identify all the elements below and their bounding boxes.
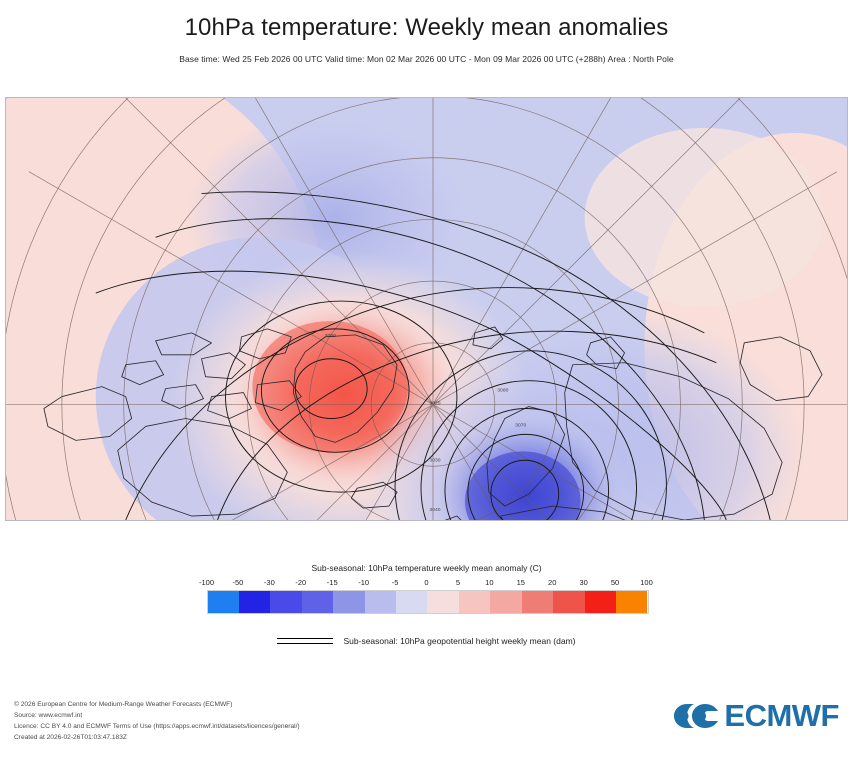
colorbar-caption: Sub-seasonal: 10hPa temperature weekly m… <box>0 563 853 573</box>
svg-text:3020: 3020 <box>429 401 440 407</box>
ecmwf-mark-icon <box>674 701 720 731</box>
colorbar-segment-10 <box>522 591 553 613</box>
svg-text:3050: 3050 <box>325 333 336 339</box>
colorbar-tick--10: -10 <box>358 578 369 587</box>
colorbar-segment-0 <box>208 591 239 613</box>
svg-text:3070: 3070 <box>515 422 526 428</box>
colorbar-block: Sub-seasonal: 10hPa temperature weekly m… <box>0 563 853 614</box>
colorbar-segment-2 <box>270 591 301 613</box>
colorbar-tick-labels: -100-50-30-20-15-10-5051015203050100 <box>207 578 647 590</box>
colorbar-segment-7 <box>427 591 458 613</box>
footer-line-1: Source: www.ecmwf.int <box>14 711 300 722</box>
colorbar-tick-0: 0 <box>424 578 428 587</box>
colorbar-tick-5: 5 <box>456 578 460 587</box>
colorbar-segment-8 <box>459 591 490 613</box>
colorbar-tick--5: -5 <box>392 578 399 587</box>
footer-credits: © 2026 European Centre for Medium-Range … <box>14 700 300 744</box>
contour-line-sample-icon <box>277 637 333 646</box>
colorbar-tick-30: 30 <box>579 578 587 587</box>
svg-text:3080: 3080 <box>497 388 508 394</box>
map-panel[interactable]: 3050 3080 3070 3020 3030 3040 3050 <box>5 97 848 521</box>
contour-legend-label: Sub-seasonal: 10hPa geopotential height … <box>343 636 575 646</box>
colorbar-segment-12 <box>585 591 616 613</box>
colorbar-segment-9 <box>490 591 521 613</box>
contour-legend: Sub-seasonal: 10hPa geopotential height … <box>0 636 853 646</box>
colorbar-tick-20: 20 <box>548 578 556 587</box>
colorbar-strip[interactable] <box>207 590 649 614</box>
colorbar-segment-6 <box>396 591 427 613</box>
colorbar-segment-11 <box>553 591 584 613</box>
svg-text:3040: 3040 <box>429 507 440 513</box>
colorbar-tick--100: -100 <box>199 578 214 587</box>
colorbar-segment-13 <box>616 591 647 613</box>
page-title: 10hPa temperature: Weekly mean anomalies <box>0 14 853 42</box>
colorbar-tick-10: 10 <box>485 578 493 587</box>
colorbar-tick-15: 15 <box>517 578 525 587</box>
footer-line-3: Created at 2026-02-26T01:03:47.183Z <box>14 733 300 744</box>
colorbar-tick--15: -15 <box>327 578 338 587</box>
colorbar-segment-5 <box>365 591 396 613</box>
colorbar-tick--50: -50 <box>233 578 244 587</box>
chart-subtitle: Base time: Wed 25 Feb 2026 00 UTC Valid … <box>0 54 853 64</box>
colorbar-tick-50: 50 <box>611 578 619 587</box>
polar-anomaly-map: 3050 3080 3070 3020 3030 3040 3050 <box>6 98 847 520</box>
colorbar-tick-100: 100 <box>640 578 653 587</box>
colorbar-segment-4 <box>333 591 364 613</box>
ecmwf-wordmark: ECMWF <box>724 700 839 731</box>
ecmwf-logo: ECMWF <box>674 700 839 731</box>
footer-line-0: © 2026 European Centre for Medium-Range … <box>14 700 300 711</box>
svg-text:3030: 3030 <box>429 457 440 463</box>
colorbar-segment-3 <box>302 591 333 613</box>
colorbar-tick--30: -30 <box>264 578 275 587</box>
colorbar-tick--20: -20 <box>295 578 306 587</box>
footer-line-2: Licence: CC BY 4.0 and ECMWF Terms of Us… <box>14 722 300 733</box>
colorbar-segment-1 <box>239 591 270 613</box>
